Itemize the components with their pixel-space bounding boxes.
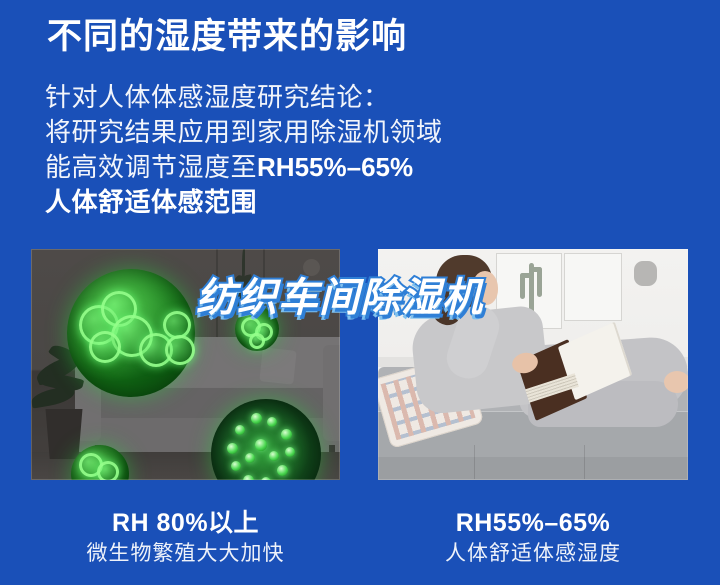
caption-left-sub: 微生物繁殖大大加快: [31, 540, 340, 568]
wall-art-frame: [564, 253, 622, 321]
sofa-seam: [584, 445, 585, 479]
copy-line-3: 能高效调节湿度至RH55%–65%: [45, 150, 565, 185]
copy-line-2: 将研究结果应用到家用除湿机领域: [45, 115, 565, 150]
wall-knob-icon: [303, 259, 320, 276]
caption-right-main: RH55%–65%: [378, 508, 688, 538]
wall-speaker-icon: [634, 261, 657, 286]
caption-right-sub: 人体舒适体感湿度: [378, 540, 688, 568]
copy-line-3-prefix: 能高效调节湿度至: [45, 152, 257, 182]
intro-copy-block: 针对人体体感湿度研究结论： 将研究结果应用到家用除湿机领域 能高效调节湿度至RH…: [45, 80, 565, 220]
caption-comfort-humidity: RH55%–65% 人体舒适体感湿度: [378, 508, 688, 568]
caption-left-main: RH 80%以上: [31, 508, 340, 538]
page-title: 不同的湿度带来的影响: [47, 14, 407, 60]
sofa-seam: [474, 445, 475, 479]
person-foot: [664, 371, 688, 393]
plant-pot: [43, 409, 85, 459]
microbe-cluster-large: [67, 269, 195, 397]
copy-line-3-highlight: RH55%–65%: [257, 152, 413, 182]
sofa-arm: [323, 345, 340, 441]
overlay-product-title: 纺织车间除湿机: [196, 276, 483, 320]
plant-leaf: [31, 385, 76, 408]
caption-high-humidity: RH 80%以上 微生物繁殖大大加快: [31, 508, 340, 568]
copy-line-1: 针对人体体感湿度研究结论：: [45, 80, 565, 115]
copy-line-4: 人体舒适体感范围: [45, 185, 565, 220]
sofa-skirt: [378, 457, 688, 480]
humidity-infographic-poster: 不同的湿度带来的影响 针对人体体感湿度研究结论： 将研究结果应用到家用除湿机领域…: [0, 0, 720, 585]
cushion: [259, 347, 296, 384]
